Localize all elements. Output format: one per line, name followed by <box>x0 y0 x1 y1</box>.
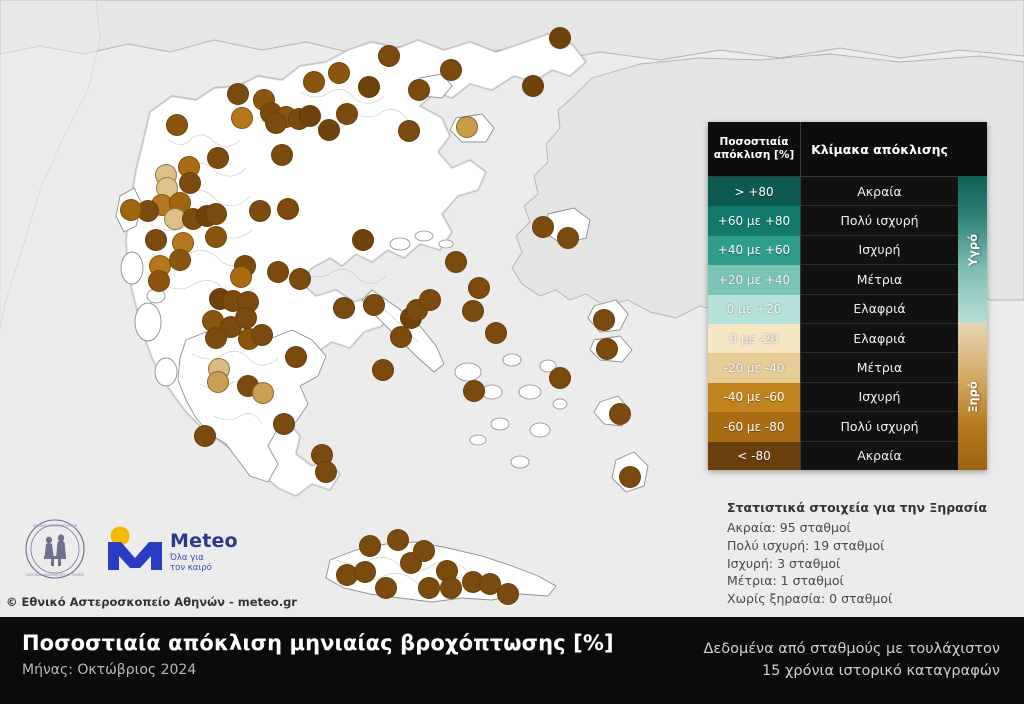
meteo-wordmark: Meteo Όλα για τον καιρό <box>170 530 238 574</box>
station-dot[interactable] <box>179 172 201 194</box>
station-dot[interactable] <box>166 114 188 136</box>
legend-row: -40 με -60Ισχυρή <box>708 383 987 412</box>
stats-lines: Ακραία: 95 σταθμοίΠολύ ισχυρή: 19 σταθμο… <box>727 519 1007 608</box>
legend-header-side-spacer <box>958 122 987 176</box>
station-dot[interactable] <box>318 119 340 141</box>
station-dot[interactable] <box>299 105 321 127</box>
station-dot[interactable] <box>336 103 358 125</box>
station-dot[interactable] <box>387 529 409 551</box>
station-dot[interactable] <box>205 203 227 225</box>
meteo-logo: Meteo Όλα για τον καιρό <box>104 524 254 576</box>
station-dot[interactable] <box>169 249 191 271</box>
legend-range-3: +20 με +40 <box>708 265 800 294</box>
legend-row: -20 με -40Μέτρια <box>708 353 987 382</box>
station-dot[interactable] <box>363 294 385 316</box>
station-dot[interactable] <box>549 27 571 49</box>
drought-statistics: Στατιστικά στοιχεία για την Ξηρασία Ακρα… <box>727 500 1007 608</box>
legend-row: +40 με +60Ισχυρή <box>708 236 987 265</box>
station-dot[interactable] <box>333 297 355 319</box>
legend-side-dry-bar: Ξηρό <box>958 323 987 470</box>
station-dot[interactable] <box>354 561 376 583</box>
station-dot[interactable] <box>352 229 374 251</box>
legend-scale-3: Μέτρια <box>800 265 958 294</box>
footer-note-line1: Δεδομένα από σταθμούς με τουλάχιστον <box>703 639 1000 661</box>
station-dot[interactable] <box>418 577 440 599</box>
station-dot[interactable] <box>462 300 484 322</box>
legend-range-9: < -80 <box>708 442 800 470</box>
station-dot[interactable] <box>619 466 641 488</box>
meteo-tagline-line1: Όλα για <box>170 553 204 563</box>
stat-line-2: Ισχυρή: 3 σταθμοί <box>727 555 1007 573</box>
legend-range-0: > +80 <box>708 177 800 206</box>
footer-title: Ποσοστιαία απόκλιση μηνιαίας βροχόπτωσης… <box>22 631 614 655</box>
legend-range-8: -60 με -80 <box>708 412 800 441</box>
station-dot[interactable] <box>456 116 478 138</box>
station-dot[interactable] <box>251 324 273 346</box>
station-dot[interactable] <box>205 226 227 248</box>
stat-line-0: Ακραία: 95 σταθμοί <box>727 519 1007 537</box>
station-dot[interactable] <box>328 62 350 84</box>
station-dot[interactable] <box>358 76 380 98</box>
legend-range-1: +60 με +80 <box>708 206 800 235</box>
station-dot[interactable] <box>413 540 435 562</box>
legend-range-7: -40 με -60 <box>708 383 800 412</box>
legend-scale-1: Πολύ ισχυρή <box>800 206 958 235</box>
footer-subtitle: Μήνας: Οκτώβριος 2024 <box>22 662 614 678</box>
legend-side-wet-label: Υγρό <box>966 233 980 265</box>
station-dot[interactable] <box>440 577 462 599</box>
legend-range-2: +40 με +60 <box>708 236 800 265</box>
station-dot[interactable] <box>557 227 579 249</box>
meteo-tagline-line2: τον καιρό <box>170 563 212 573</box>
legend-row: +20 με +40Μέτρια <box>708 265 987 294</box>
footer-note: Δεδομένα από σταθμούς με τουλάχιστον 15 … <box>703 639 1000 683</box>
legend-row: +60 με +80Πολύ ισχυρή <box>708 206 987 235</box>
station-dot[interactable] <box>315 461 337 483</box>
legend-scale-8: Πολύ ισχυρή <box>800 412 958 441</box>
station-dot[interactable] <box>230 266 252 288</box>
stats-title: Στατιστικά στοιχεία για την Ξηρασία <box>727 500 1007 515</box>
legend-row: 0 με +20Ελαφριά <box>708 295 987 324</box>
station-dot[interactable] <box>609 403 631 425</box>
station-dot[interactable] <box>120 199 142 221</box>
noa-seal-icon: ΕΘΝΙΚΟΝ ΑΣΤΕΡΟΣΚΟΠΕΙΟΝ NATIONAL OBSERVAT… <box>24 518 86 580</box>
legend-scale-2: Ισχυρή <box>800 236 958 265</box>
infographic-root: Ποσοστιαία απόκλιση [%] Κλίμακα απόκλιση… <box>0 0 1024 704</box>
station-dot[interactable] <box>249 200 271 222</box>
legend-range-4: 0 με +20 <box>708 295 800 324</box>
station-dot[interactable] <box>207 371 229 393</box>
legend-scale-0: Ακραία <box>800 177 958 206</box>
station-dot[interactable] <box>375 577 397 599</box>
station-dot[interactable] <box>398 120 420 142</box>
footer-left: Ποσοστιαία απόκλιση μηνιαίας βροχόπτωσης… <box>22 631 614 678</box>
meteo-mark-icon <box>104 524 166 574</box>
stat-line-1: Πολύ ισχυρή: 19 σταθμοί <box>727 537 1007 555</box>
station-dot[interactable] <box>549 367 571 389</box>
legend-scale-4: Ελαφριά <box>800 295 958 324</box>
station-dot[interactable] <box>419 289 441 311</box>
station-dot[interactable] <box>285 346 307 368</box>
legend-header-row: Ποσοστιαία απόκλιση [%] Κλίμακα απόκλιση… <box>708 122 987 177</box>
legend-row: -60 με -80Πολύ ισχυρή <box>708 412 987 441</box>
station-dot[interactable] <box>265 112 287 134</box>
legend-scale-6: Μέτρια <box>800 353 958 382</box>
legend-range-5: 0 με -20 <box>708 324 800 353</box>
legend-row: 0 με -20Ελαφριά <box>708 324 987 353</box>
legend-side-wet-bar: Υγρό <box>958 176 987 323</box>
meteo-name: Meteo <box>170 530 238 552</box>
map-canvas[interactable]: Ποσοστιαία απόκλιση [%] Κλίμακα απόκλιση… <box>0 0 1024 617</box>
legend-header-scale: Κλίμακα απόκλισης <box>800 122 958 176</box>
station-dot[interactable] <box>252 382 274 404</box>
station-dot[interactable] <box>227 83 249 105</box>
legend-scale-5: Ελαφριά <box>800 324 958 353</box>
footer-note-line2: 15 χρόνια ιστορικό καταγραφών <box>703 661 1000 683</box>
svg-text:ΕΘΝΙΚΟΝ ΑΣΤΕΡΟΣΚΟΠΕΙΟΝ: ΕΘΝΙΚΟΝ ΑΣΤΕΡΟΣΚΟΠΕΙΟΝ <box>33 524 78 528</box>
station-dot[interactable] <box>593 309 615 331</box>
station-dot[interactable] <box>194 425 216 447</box>
meteo-tagline: Όλα για τον καιρό <box>170 553 238 574</box>
legend-header-deviation-line1: Ποσοστιαία <box>720 136 789 148</box>
stat-line-3: Μέτρια: 1 σταθμοί <box>727 572 1007 590</box>
station-dot[interactable] <box>205 327 227 349</box>
legend-header-deviation: Ποσοστιαία απόκλιση [%] <box>708 122 800 176</box>
legend-row: < -80Ακραία <box>708 442 987 470</box>
legend-header-deviation-line2: απόκλιση [%] <box>714 149 794 161</box>
station-dot[interactable] <box>267 261 289 283</box>
station-dot[interactable] <box>207 147 229 169</box>
station-dot[interactable] <box>440 59 462 81</box>
station-dot[interactable] <box>485 322 507 344</box>
station-dot[interactable] <box>273 413 295 435</box>
station-dot[interactable] <box>372 359 394 381</box>
stat-line-4: Χωρίς ξηρασία: 0 σταθμοί <box>727 590 1007 608</box>
station-dot[interactable] <box>148 270 170 292</box>
station-dot[interactable] <box>271 144 293 166</box>
station-dot[interactable] <box>468 277 490 299</box>
station-dot[interactable] <box>445 251 467 273</box>
station-dot[interactable] <box>303 71 325 93</box>
station-dot[interactable] <box>235 307 257 329</box>
copyright-text: © Εθνικό Αστεροσκοπείο Αθηνών - meteo.gr <box>6 595 297 609</box>
station-dot[interactable] <box>289 268 311 290</box>
svg-text:NATIONAL OBSERVATORY OF ATHENS: NATIONAL OBSERVATORY OF ATHENS <box>26 573 83 577</box>
legend-rows: > +80Ακραία+60 με +80Πολύ ισχυρή+40 με +… <box>708 177 987 470</box>
station-dot[interactable] <box>497 583 519 605</box>
station-dot[interactable] <box>231 107 253 129</box>
legend-side-dry-label: Ξηρό <box>966 381 980 413</box>
station-dot[interactable] <box>359 535 381 557</box>
legend-row: > +80Ακραία <box>708 177 987 206</box>
station-dot[interactable] <box>532 216 554 238</box>
legend-scale-9: Ακραία <box>800 442 958 470</box>
station-dot[interactable] <box>390 326 412 348</box>
footer-bar: Ποσοστιαία απόκλιση μηνιαίας βροχόπτωσης… <box>0 617 1024 704</box>
legend-table: Ποσοστιαία απόκλιση [%] Κλίμακα απόκλιση… <box>708 122 987 470</box>
station-dot[interactable] <box>145 229 167 251</box>
station-dot[interactable] <box>522 75 544 97</box>
station-dot[interactable] <box>378 45 400 67</box>
legend-scale-7: Ισχυρή <box>800 383 958 412</box>
station-dot[interactable] <box>463 380 485 402</box>
station-dot[interactable] <box>408 79 430 101</box>
station-dot[interactable] <box>596 338 618 360</box>
legend-range-6: -20 με -40 <box>708 353 800 382</box>
station-dot[interactable] <box>277 198 299 220</box>
